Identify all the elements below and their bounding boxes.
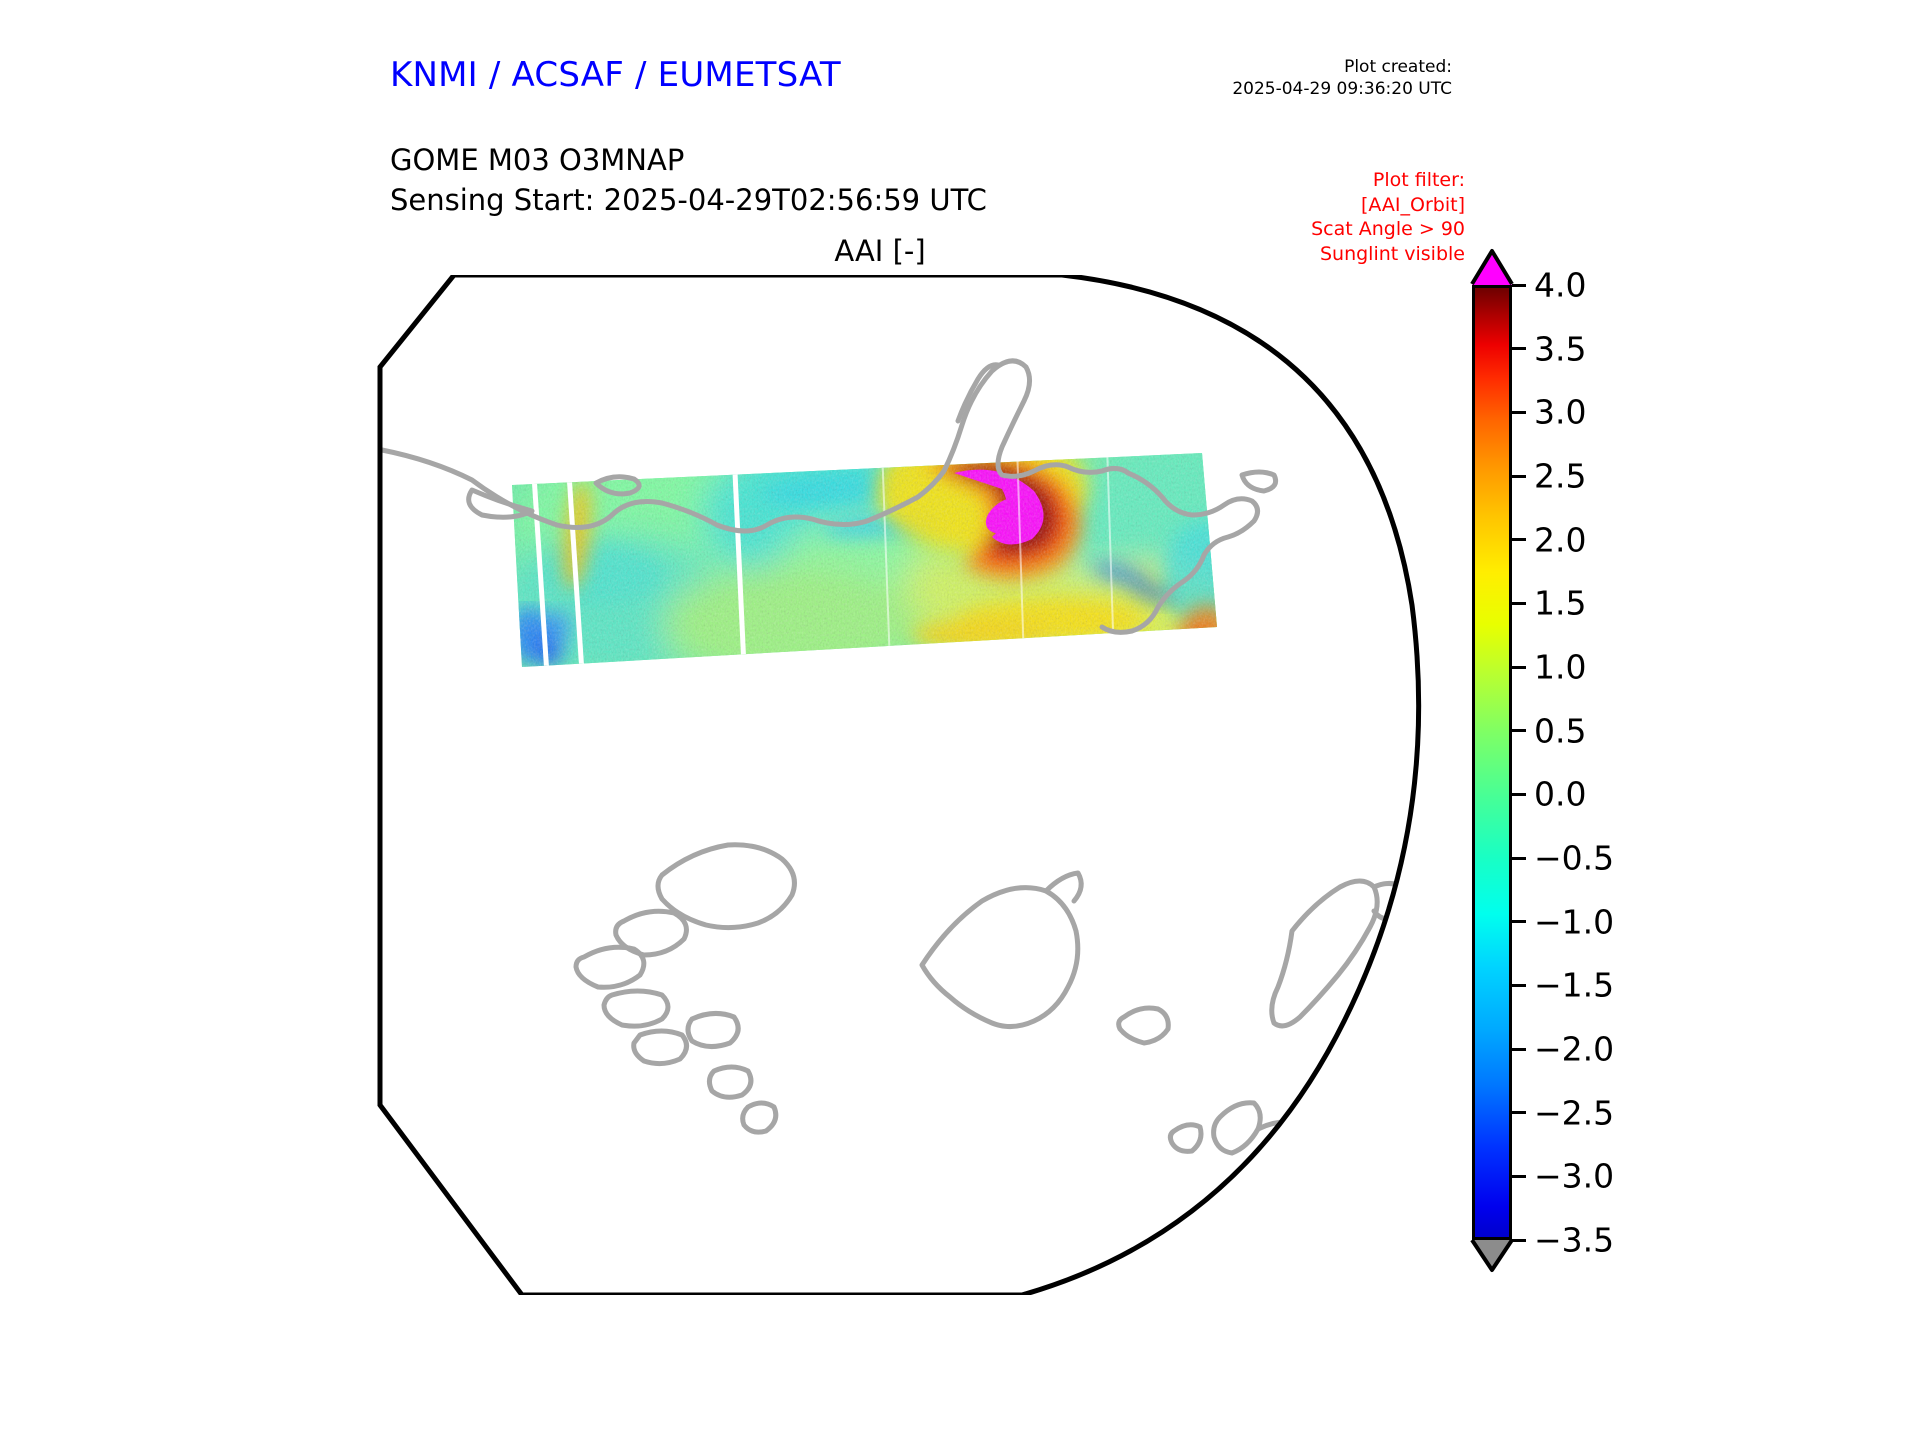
- colorbar-under-range-outline: [1469, 1237, 1515, 1273]
- colorbar-tick-label: −2.0: [1534, 1033, 1614, 1066]
- map-canvas: [362, 275, 1462, 1295]
- sensing-start: Sensing Start: 2025-04-29T02:56:59 UTC: [390, 180, 987, 220]
- plot-filter-block: Plot filter: [AAI_Orbit] Scat Angle > 90…: [1311, 168, 1465, 267]
- colorbar-tick: [1512, 538, 1526, 541]
- product-name: GOME M03 O3MNAP: [390, 140, 987, 180]
- plot-created-label: Plot created:: [1232, 56, 1452, 78]
- colorbar-tick-label: −3.5: [1534, 1224, 1614, 1257]
- colorbar-tick-label: 0.5: [1534, 714, 1586, 747]
- colorbar-tick-label: 1.5: [1534, 587, 1586, 620]
- colorbar-tick-label: 2.0: [1534, 523, 1586, 556]
- colorbar-tick: [1512, 729, 1526, 732]
- colorbar-tick: [1512, 411, 1526, 414]
- product-info-block: GOME M03 O3MNAP Sensing Start: 2025-04-2…: [390, 140, 987, 220]
- colorbar-tick-label: 4.0: [1534, 269, 1586, 302]
- colorbar-tick: [1512, 1048, 1526, 1051]
- filter-line-4: Sunglint visible: [1311, 242, 1465, 267]
- colorbar-tick: [1512, 347, 1526, 350]
- colorbar-tick-label: −2.5: [1534, 1096, 1614, 1129]
- colorbar-tick: [1512, 1111, 1526, 1114]
- colorbar-tick-label: 2.5: [1534, 460, 1586, 493]
- colorbar-tick-label: 3.0: [1534, 396, 1586, 429]
- colorbar-tick: [1512, 1239, 1526, 1242]
- colorbar-tick-label: −1.5: [1534, 969, 1614, 1002]
- colorbar-tick-label: −1.0: [1534, 905, 1614, 938]
- filter-line-3: Scat Angle > 90: [1311, 217, 1465, 242]
- colorbar-tick: [1512, 284, 1526, 287]
- filter-line-2: [AAI_Orbit]: [1311, 193, 1465, 218]
- colorbar-tick: [1512, 1175, 1526, 1178]
- plot-created-timestamp: 2025-04-29 09:36:20 UTC: [1232, 78, 1452, 100]
- colorbar-tick-label: 1.0: [1534, 651, 1586, 684]
- colorbar-gradient: [1472, 285, 1512, 1240]
- colorbar-tick-label: 3.5: [1534, 332, 1586, 365]
- colorbar-tick: [1512, 984, 1526, 987]
- colorbar-tick-label: 0.0: [1534, 778, 1586, 811]
- organisation-title: KNMI / ACSAF / EUMETSAT: [390, 55, 841, 95]
- colorbar-tick: [1512, 602, 1526, 605]
- colorbar-tick-label: −0.5: [1534, 842, 1614, 875]
- colorbar-tick: [1512, 666, 1526, 669]
- map-plot-area: [362, 275, 1462, 1295]
- filter-line-1: Plot filter:: [1311, 168, 1465, 193]
- colorbar-tick: [1512, 793, 1526, 796]
- page-title: AAI [-]: [600, 234, 1160, 268]
- map-border: [380, 275, 1419, 1295]
- colorbar: 4.03.53.02.52.01.51.00.50.0−0.5−1.0−1.5−…: [1472, 285, 1772, 1295]
- colorbar-tick: [1512, 475, 1526, 478]
- colorbar-tick: [1512, 857, 1526, 860]
- plot-created-block: Plot created: 2025-04-29 09:36:20 UTC: [1232, 56, 1452, 101]
- colorbar-over-range-outline: [1469, 248, 1515, 286]
- data-swath: [492, 428, 1302, 685]
- colorbar-tick: [1512, 920, 1526, 923]
- colorbar-tick-label: −3.0: [1534, 1160, 1614, 1193]
